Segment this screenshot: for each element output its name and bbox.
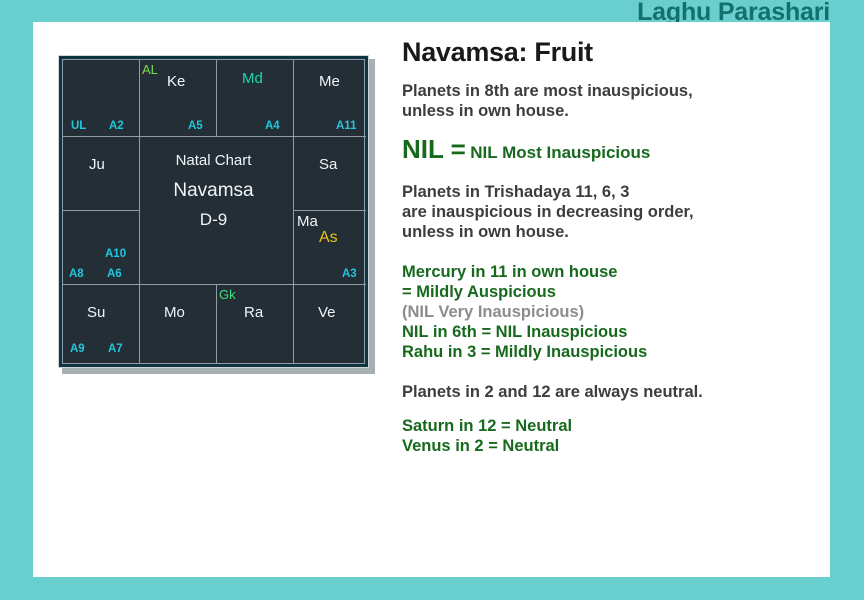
chart-planet-ke: Ke [167,74,185,89]
chart-planet-ra: Ra [244,305,263,320]
chart-label-a10: A10 [105,248,126,260]
chart-special-gk: Gk [219,288,236,301]
chart-cell-r1c4[interactable]: Me A11 [294,60,366,137]
commentary-column: Navamsa: Fruit Planets in 8th are most i… [402,37,822,456]
chart-cell-r4c2[interactable]: Mo [140,285,217,363]
chart-special-al: AL [142,63,158,76]
paragraph-neutral-houses: Planets in 2 and 12 are always neutral. [402,382,822,402]
chart-cell-r1c2[interactable]: AL Ke A5 [140,60,217,137]
chart-label-a3: A3 [342,268,357,280]
chart-cell-r1c1[interactable]: UL A2 [63,60,140,137]
chart-label-a11: A11 [336,120,356,132]
result-nil-rahu: NIL in 6th = NIL Inauspicious Rahu in 3 … [402,322,822,362]
chart-label-a4: A4 [265,120,280,132]
chart-cell-r1c3[interactable]: Md A4 [217,60,294,137]
natal-chart-grid: UL A2 AL Ke A5 Md A4 Me A11 Ju [62,59,365,364]
paragraph-8th-house: Planets in 8th are most inauspicious, un… [402,81,822,121]
chart-special-md: Md [242,72,263,85]
result-saturn-venus: Saturn in 12 = Neutral Venus in 2 = Neut… [402,416,822,456]
chart-label-a7: A7 [108,343,123,355]
chart-center-natal-label: Natal Chart [63,152,364,169]
chart-center-divisional-label: Navamsa [63,180,364,202]
result-mercury: Mercury in 11 in own house = Mildly Ausp… [402,262,822,302]
page-title: Navamsa: Fruit [402,37,822,67]
natal-chart-frame: UL A2 AL Ke A5 Md A4 Me A11 Ju [58,55,369,368]
chart-label-a9: A9 [70,343,85,355]
chart-planet-su: Su [87,305,105,320]
chart-label-a8: A8 [69,268,84,280]
chart-cell-r4c3[interactable]: Gk Ra [217,285,294,363]
content-panel: UL A2 AL Ke A5 Md A4 Me A11 Ju [33,22,830,577]
result-mercury-note: (NIL Very Inauspicious) [402,302,822,322]
nil-legend-line: NIL = NIL Most Inauspicious [402,136,822,167]
nil-legend-symbol: NIL = [402,134,466,164]
paragraph-trishadaya: Planets in Trishadaya 11, 6, 3 are inaus… [402,182,822,242]
chart-label-a2: A2 [109,120,124,132]
nil-legend-text: NIL Most Inauspicious [470,143,650,162]
chart-cell-r4c1[interactable]: Su A9 A7 [63,285,140,363]
chart-label-a5: A5 [188,120,203,132]
chart-planet-mo: Mo [164,305,185,320]
chart-planet-ve: Ve [318,305,336,320]
chart-planet-me: Me [319,74,340,89]
chart-label-a6: A6 [107,268,122,280]
chart-center-code-label: D-9 [63,210,364,230]
slide-title: Laghu Parashari [0,0,864,22]
chart-label-ul: UL [71,120,86,132]
chart-cell-r4c4[interactable]: Ve [294,285,366,363]
chart-special-as: As [319,231,338,244]
